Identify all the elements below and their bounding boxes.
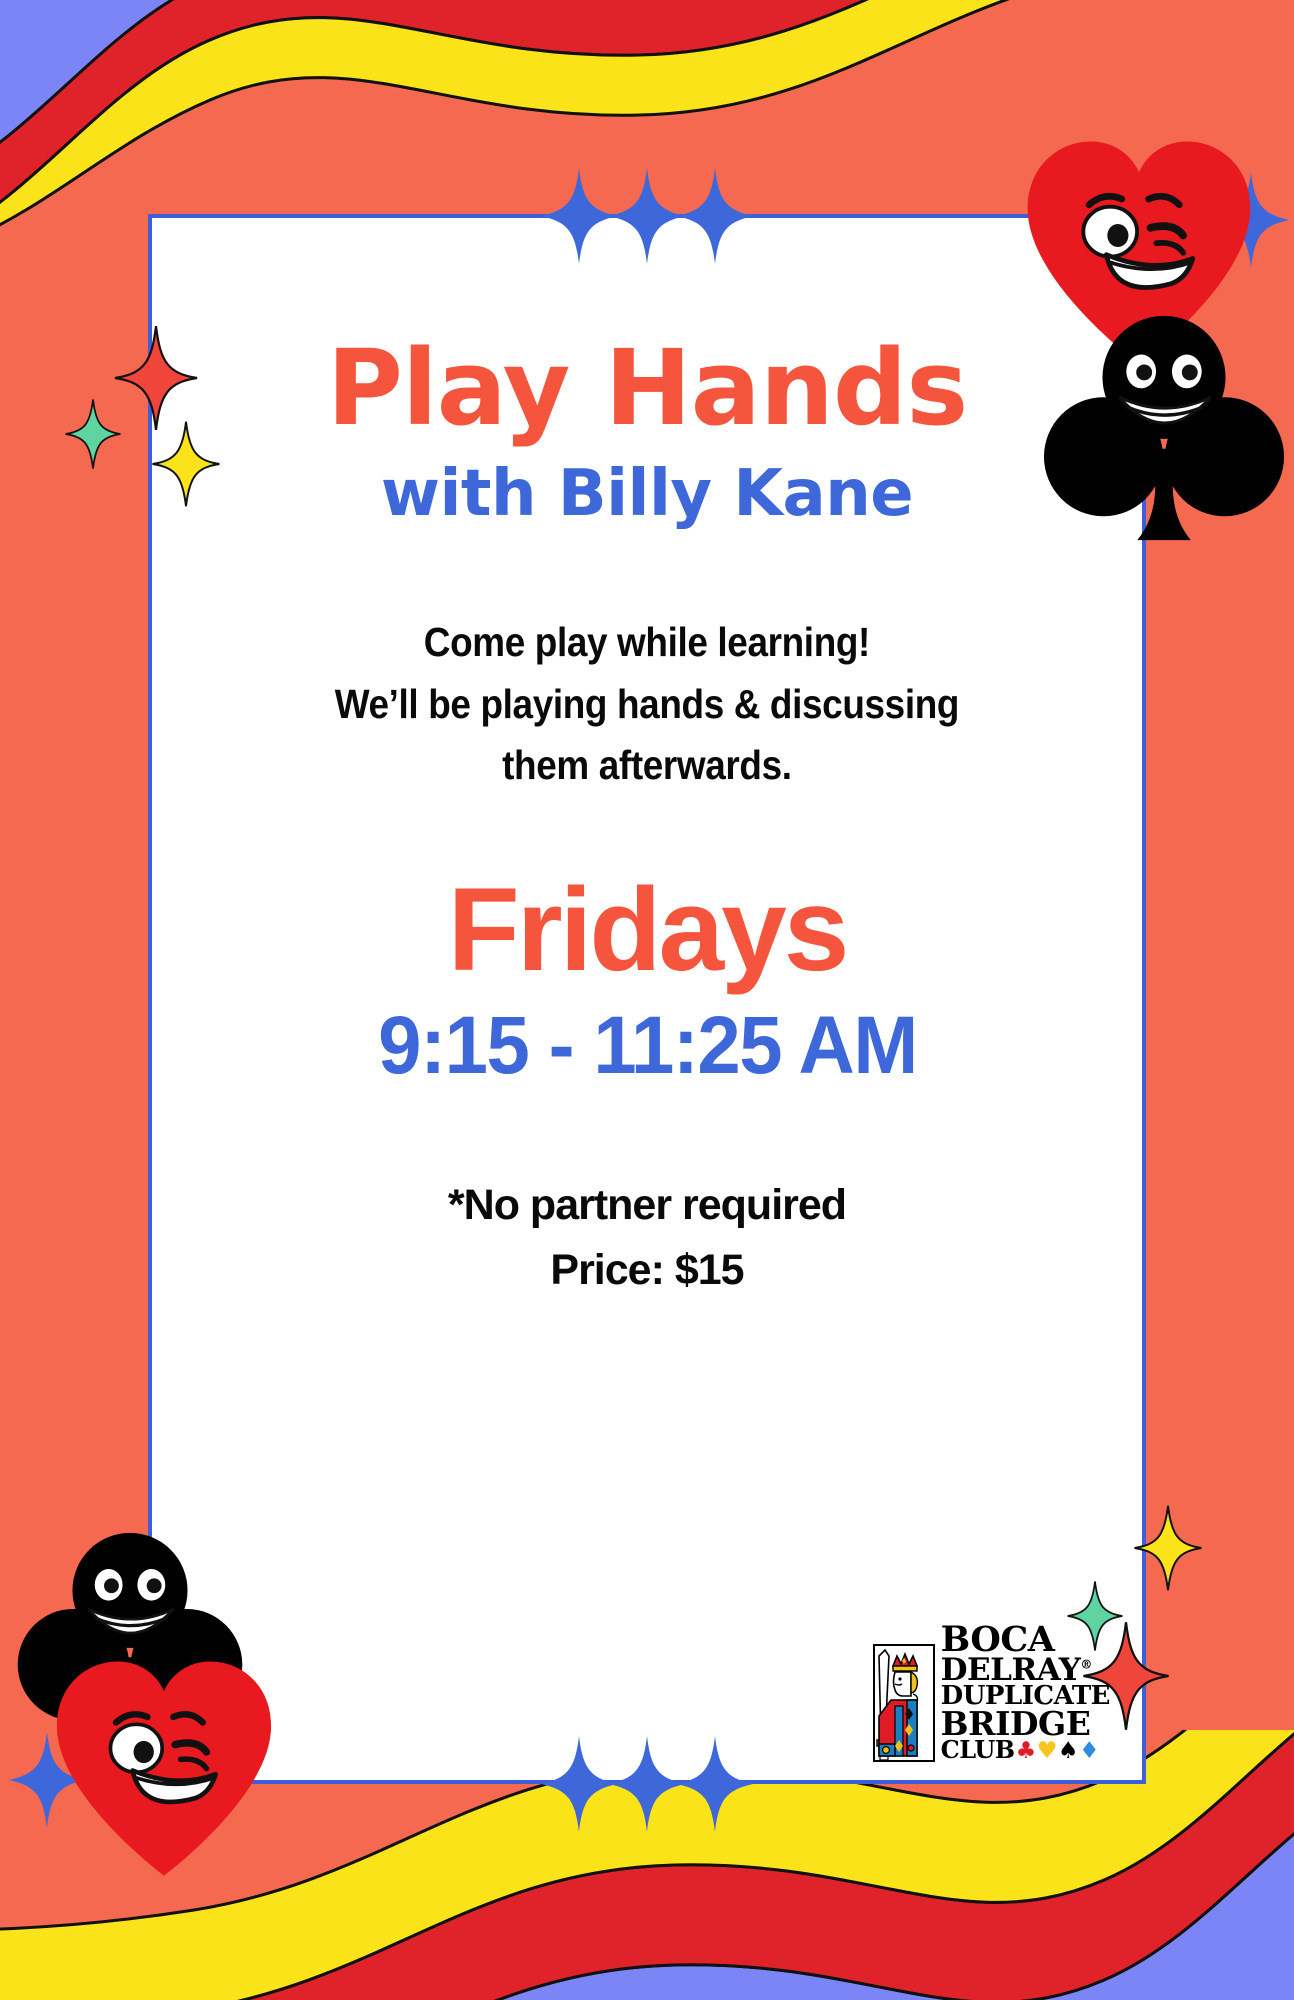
logo-line-bridge: BRIDGE	[941, 1709, 1110, 1739]
logo-line-club: CLUB ♣ ♥ ♠ ♦	[941, 1739, 1110, 1762]
event-day: Fridays	[448, 871, 847, 989]
spade-suit-icon: ♠	[1058, 1739, 1078, 1762]
green-sparkle-icon	[62, 398, 124, 470]
blue-sparkle-icon	[1212, 172, 1290, 268]
event-note: *No partner required Price: $15	[448, 1173, 846, 1304]
diamond-suit-icon: ♦	[1079, 1739, 1099, 1762]
page-subtitle: with Billy Kane	[381, 462, 913, 526]
club-logo: BOCA DELRAY® DUPLICATE BRIDGE CLUB ♣ ♥ ♠…	[873, 1624, 1110, 1762]
club-suit-icon: ♣	[1016, 1739, 1036, 1762]
event-time: 9:15 - 11:25 AM	[378, 1005, 917, 1087]
blue-sparkle-icon	[8, 1732, 86, 1828]
king-card-icon	[873, 1644, 935, 1762]
page-title: Play Hands	[327, 336, 967, 440]
poster-canvas: Play Hands with Billy Kane Come play whi…	[0, 0, 1294, 2000]
logo-wordmark: BOCA DELRAY® DUPLICATE BRIDGE CLUB ♣ ♥ ♠…	[941, 1624, 1110, 1762]
poster-card: Play Hands with Billy Kane Come play whi…	[148, 214, 1146, 1784]
logo-club-text: CLUB	[941, 1739, 1015, 1761]
registered-mark: ®	[1080, 1658, 1092, 1672]
card-content: Play Hands with Billy Kane Come play whi…	[152, 218, 1142, 1780]
body-description: Come play while learning! We’ll be playi…	[335, 612, 959, 797]
heart-suit-icon: ♥	[1037, 1739, 1057, 1762]
